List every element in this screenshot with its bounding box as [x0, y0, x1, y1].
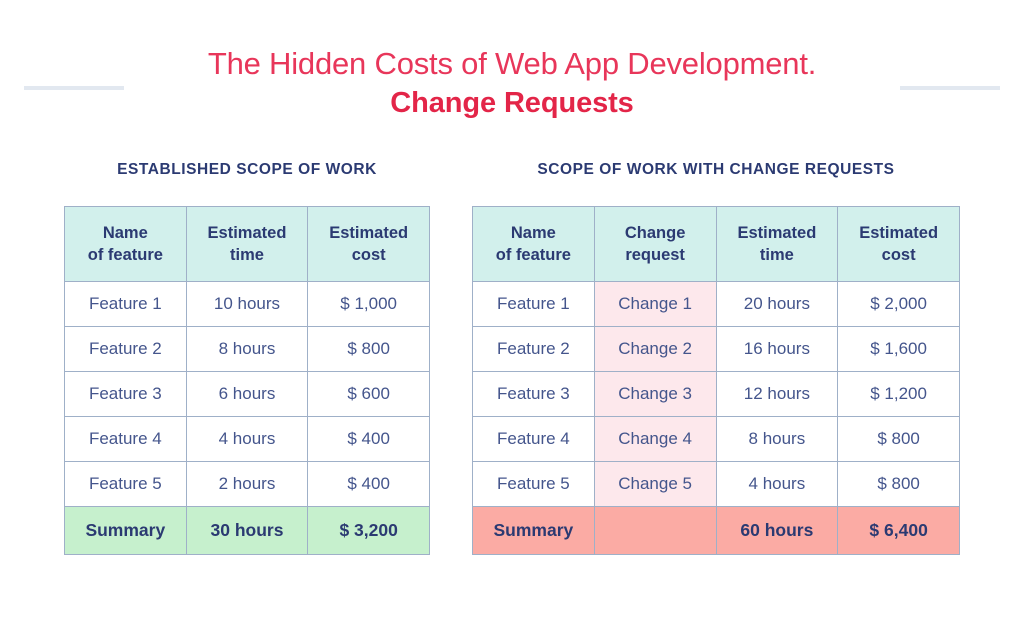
table-head: Name of feature Change request Estimated… — [473, 207, 960, 282]
cell-estimated-cost: $ 800 — [838, 462, 960, 507]
cell-feature-name: Feature 5 — [473, 462, 595, 507]
column-header-line-2: time — [717, 244, 838, 266]
cell-estimated-cost: $ 800 — [308, 327, 430, 372]
cell-feature-name: Feature 2 — [473, 327, 595, 372]
cell-estimated-time: 4 hours — [186, 417, 308, 462]
table-header-row: Name of feature Estimated time Estimated… — [65, 207, 430, 282]
cell-feature-name: Feature 4 — [473, 417, 595, 462]
column-header-change-request: Change request — [594, 207, 716, 282]
cell-estimated-time: 16 hours — [716, 327, 838, 372]
column-header-line-2: cost — [308, 244, 429, 266]
cell-summary-label: Summary — [473, 507, 595, 555]
tables-area: ESTABLISHED SCOPE OF WORK Name of featur… — [0, 160, 1024, 580]
table-body: Feature 1 10 hours $ 1,000 Feature 2 8 h… — [65, 282, 430, 555]
cell-estimated-cost: $ 600 — [308, 372, 430, 417]
cell-feature-name: Feature 1 — [65, 282, 187, 327]
column-header-line-2: of feature — [65, 244, 186, 266]
established-scope-panel: ESTABLISHED SCOPE OF WORK Name of featur… — [64, 160, 430, 555]
summary-row: Summary 60 hours $ 6,400 — [473, 507, 960, 555]
cell-summary-cost: $ 6,400 — [838, 507, 960, 555]
cell-estimated-cost: $ 1,000 — [308, 282, 430, 327]
cell-summary-time: 30 hours — [186, 507, 308, 555]
change-requests-scope-panel: SCOPE OF WORK WITH CHANGE REQUESTS Name … — [472, 160, 960, 555]
column-header-estimated-time: Estimated time — [716, 207, 838, 282]
change-requests-scope-table: Name of feature Change request Estimated… — [472, 206, 960, 555]
cell-estimated-time: 4 hours — [716, 462, 838, 507]
column-header-line-1: Estimated — [187, 222, 308, 244]
cell-change-request: Change 5 — [594, 462, 716, 507]
cell-estimated-cost: $ 400 — [308, 417, 430, 462]
table-header-row: Name of feature Change request Estimated… — [473, 207, 960, 282]
cell-estimated-time: 2 hours — [186, 462, 308, 507]
column-header-line-1: Estimated — [308, 222, 429, 244]
cell-summary-time: 60 hours — [716, 507, 838, 555]
cell-feature-name: Feature 5 — [65, 462, 187, 507]
table-body: Feature 1 Change 1 20 hours $ 2,000 Feat… — [473, 282, 960, 555]
cell-estimated-time: 6 hours — [186, 372, 308, 417]
column-header-line-2: time — [187, 244, 308, 266]
cell-feature-name: Feature 3 — [65, 372, 187, 417]
column-header-name-of-feature: Name of feature — [65, 207, 187, 282]
cell-summary-change — [594, 507, 716, 555]
cell-change-request: Change 1 — [594, 282, 716, 327]
cell-estimated-cost: $ 800 — [838, 417, 960, 462]
cell-summary-label: Summary — [65, 507, 187, 555]
summary-row: Summary 30 hours $ 3,200 — [65, 507, 430, 555]
table-row: Feature 4 Change 4 8 hours $ 800 — [473, 417, 960, 462]
established-scope-table: Name of feature Estimated time Estimated… — [64, 206, 430, 555]
column-header-line-1: Name — [65, 222, 186, 244]
cell-estimated-cost: $ 400 — [308, 462, 430, 507]
column-header-line-2: request — [595, 244, 716, 266]
cell-change-request: Change 4 — [594, 417, 716, 462]
cell-estimated-time: 12 hours — [716, 372, 838, 417]
table-row: Feature 1 Change 1 20 hours $ 2,000 — [473, 282, 960, 327]
cell-estimated-time: 8 hours — [716, 417, 838, 462]
table-row: Feature 5 Change 5 4 hours $ 800 — [473, 462, 960, 507]
page-title-line-1: The Hidden Costs of Web App Development. — [0, 44, 1024, 84]
column-header-line-2: cost — [838, 244, 959, 266]
table-row: Feature 3 6 hours $ 600 — [65, 372, 430, 417]
column-header-estimated-cost: Estimated cost — [308, 207, 430, 282]
table-row: Feature 2 8 hours $ 800 — [65, 327, 430, 372]
cell-estimated-time: 8 hours — [186, 327, 308, 372]
page-title: The Hidden Costs of Web App Development.… — [0, 44, 1024, 122]
cell-estimated-cost: $ 2,000 — [838, 282, 960, 327]
cell-feature-name: Feature 1 — [473, 282, 595, 327]
cell-estimated-cost: $ 1,600 — [838, 327, 960, 372]
page-title-line-2: Change Requests — [0, 84, 1024, 122]
cell-estimated-time: 20 hours — [716, 282, 838, 327]
established-scope-heading: ESTABLISHED SCOPE OF WORK — [64, 160, 430, 180]
cell-feature-name: Feature 3 — [473, 372, 595, 417]
table-row: Feature 1 10 hours $ 1,000 — [65, 282, 430, 327]
column-header-line-1: Estimated — [717, 222, 838, 244]
cell-feature-name: Feature 4 — [65, 417, 187, 462]
column-header-line-2: of feature — [473, 244, 594, 266]
cell-summary-cost: $ 3,200 — [308, 507, 430, 555]
table-row: Feature 3 Change 3 12 hours $ 1,200 — [473, 372, 960, 417]
cell-change-request: Change 2 — [594, 327, 716, 372]
title-rule-left — [24, 86, 124, 90]
table-row: Feature 4 4 hours $ 400 — [65, 417, 430, 462]
cell-estimated-cost: $ 1,200 — [838, 372, 960, 417]
column-header-estimated-time: Estimated time — [186, 207, 308, 282]
cell-feature-name: Feature 2 — [65, 327, 187, 372]
table-row: Feature 2 Change 2 16 hours $ 1,600 — [473, 327, 960, 372]
column-header-line-1: Estimated — [838, 222, 959, 244]
change-requests-scope-heading: SCOPE OF WORK WITH CHANGE REQUESTS — [472, 160, 960, 180]
column-header-estimated-cost: Estimated cost — [838, 207, 960, 282]
title-rule-right — [900, 86, 1000, 90]
cell-estimated-time: 10 hours — [186, 282, 308, 327]
column-header-name-of-feature: Name of feature — [473, 207, 595, 282]
table-head: Name of feature Estimated time Estimated… — [65, 207, 430, 282]
column-header-line-1: Name — [473, 222, 594, 244]
table-row: Feature 5 2 hours $ 400 — [65, 462, 430, 507]
cell-change-request: Change 3 — [594, 372, 716, 417]
column-header-line-1: Change — [595, 222, 716, 244]
